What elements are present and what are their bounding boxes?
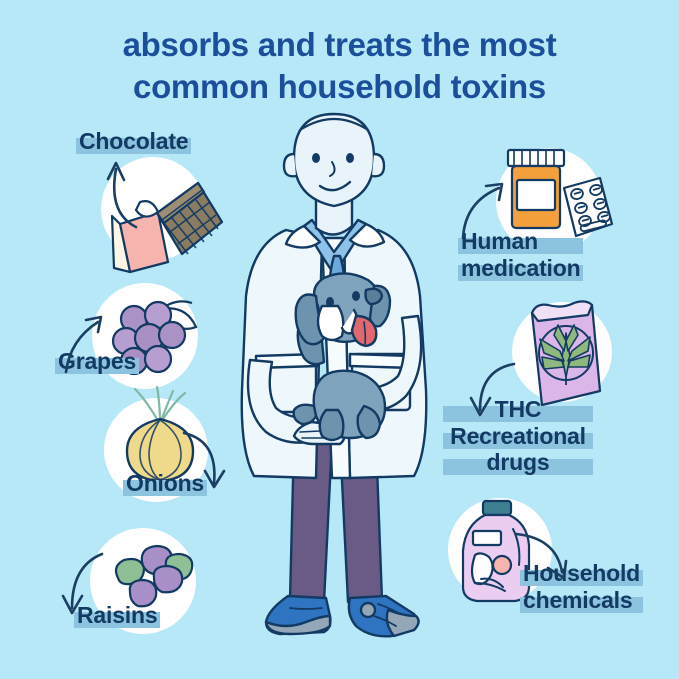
medication-arrow-icon bbox=[455, 178, 509, 244]
thc-arrow-icon bbox=[462, 358, 520, 420]
page-title: absorbs and treats the most common house… bbox=[0, 24, 679, 107]
veterinarian-holding-dog-illustration bbox=[228, 110, 448, 670]
chocolate-arrow-icon bbox=[96, 155, 144, 230]
chemicals-arrow-icon bbox=[512, 528, 572, 584]
raisins-arrow-icon bbox=[58, 548, 110, 620]
grapes-arrow-icon bbox=[56, 310, 106, 376]
infographic-poster: absorbs and treats the most common house… bbox=[0, 0, 679, 679]
onions-arrow-icon bbox=[178, 425, 234, 493]
label-chocolate: Chocolate bbox=[76, 128, 191, 155]
